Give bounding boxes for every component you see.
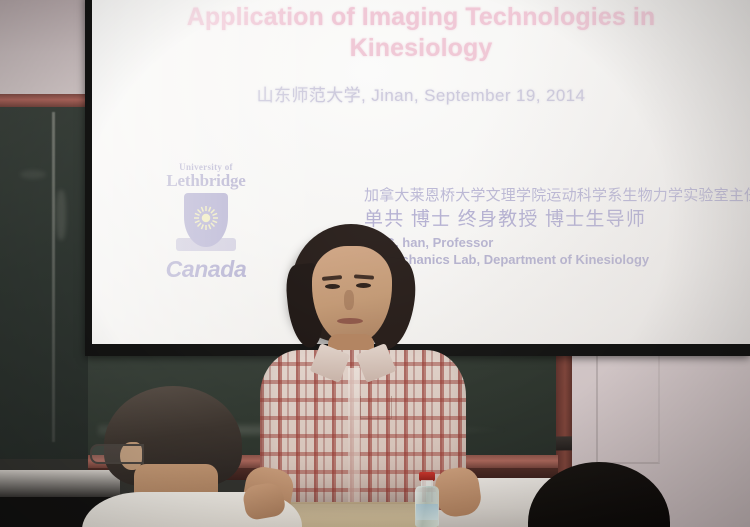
- presenter-mouth: [337, 318, 363, 324]
- chalkboard-seam: [52, 112, 55, 442]
- presenter-shirt-pocket: [360, 396, 392, 419]
- sun-icon: [194, 205, 219, 230]
- slide-subtitle: 山东师范大学, Jinan, September 19, 2014: [92, 81, 750, 106]
- bottle-label: [416, 504, 438, 520]
- presenter-nose: [344, 290, 354, 310]
- photo-scene: Application of Imaging Technologies in K…: [0, 0, 750, 527]
- water-bottle: [413, 472, 441, 527]
- presenter-shirt-placket: [348, 368, 360, 510]
- audience-member-foreground: [62, 386, 292, 527]
- audience-member-right: [528, 462, 678, 527]
- presenter-eye-left: [325, 284, 340, 289]
- slide-title: Application of Imaging Technologies in K…: [92, 2, 750, 64]
- audience-right-hair: [528, 462, 670, 527]
- chalk-smudge: [56, 190, 66, 240]
- upper-wall: [0, 0, 92, 96]
- credentials-chinese-line-1: 加拿大莱恩桥大学文理学院运动科学系生物力学实验室主任: [364, 186, 744, 205]
- presenter-eye-right: [356, 283, 371, 288]
- logo-name-line: Lethbridge: [143, 172, 269, 190]
- chalkboard-top-rail-left: [0, 94, 92, 108]
- chalk-smudge: [20, 170, 46, 179]
- logo-ribbon: [176, 238, 236, 251]
- eyeglasses-icon: [90, 444, 144, 464]
